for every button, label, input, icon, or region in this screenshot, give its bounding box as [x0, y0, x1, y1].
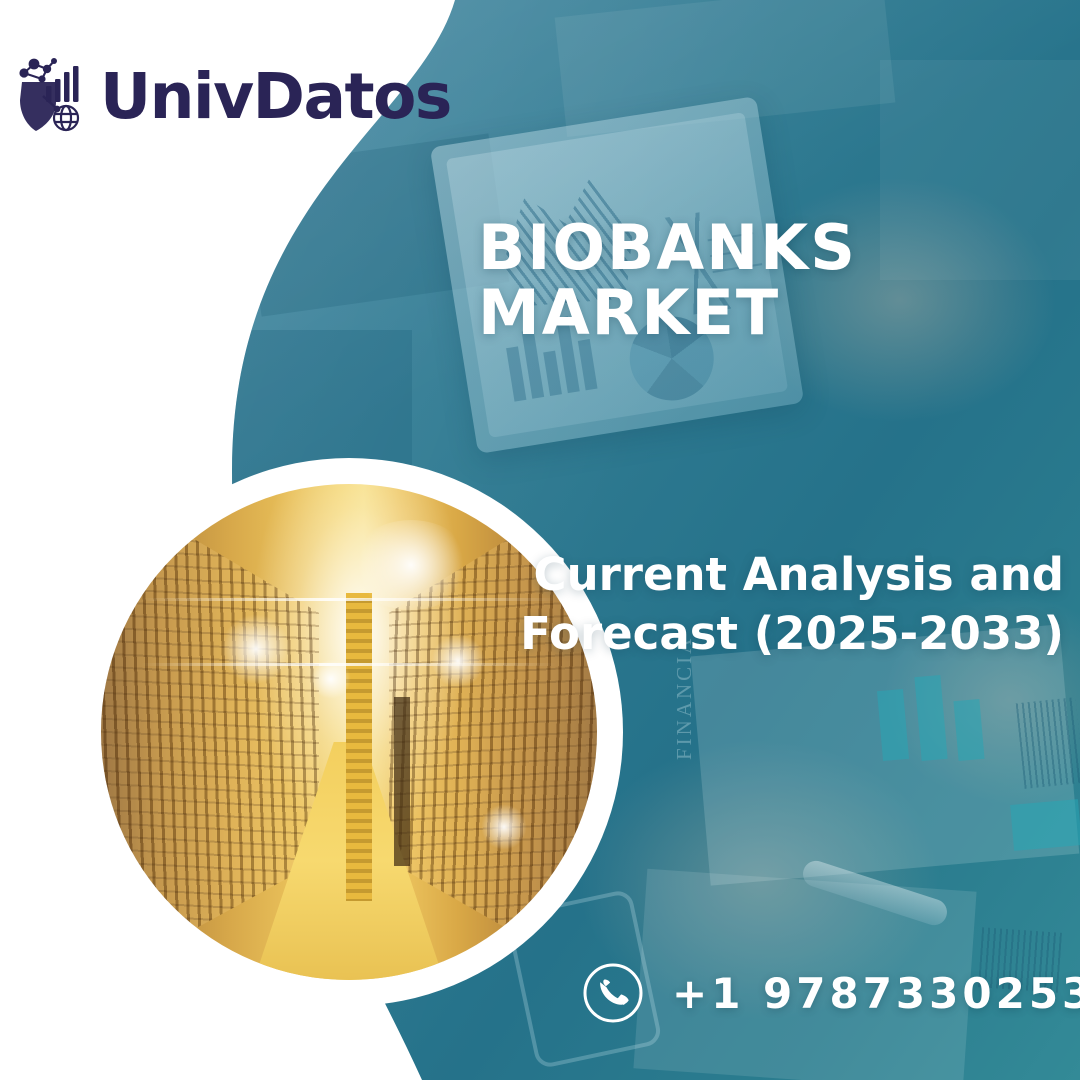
document-bar: [953, 699, 984, 761]
brand-logo[interactable]: UnivDatos: [16, 56, 451, 136]
subtitle-line-2: Forecast (2025-2033): [444, 604, 1064, 663]
molecule-bars-globe-icon: [16, 56, 94, 136]
phone-circle-icon: [582, 962, 644, 1024]
page-title: BIOBANKS MARKET: [478, 215, 1078, 345]
subtitle-line-1: Current Analysis and: [444, 545, 1064, 604]
promotional-poster: FINANCIA: [0, 0, 1080, 1080]
page-subtitle: Current Analysis and Forecast (2025-2033…: [444, 545, 1064, 664]
crane-shadow: [394, 697, 410, 866]
phone-number[interactable]: +1 9787330253: [672, 969, 1080, 1018]
tablet-bar: [506, 346, 526, 401]
circular-photo-frame: [75, 458, 623, 1006]
tablet-bar: [543, 351, 562, 396]
storage-crane: [346, 593, 372, 901]
brand-name: UnivDatos: [100, 65, 451, 128]
document-grid: [1016, 697, 1080, 789]
document-bar: [1010, 799, 1080, 851]
contact-block[interactable]: +1 9787330253: [582, 962, 1080, 1024]
